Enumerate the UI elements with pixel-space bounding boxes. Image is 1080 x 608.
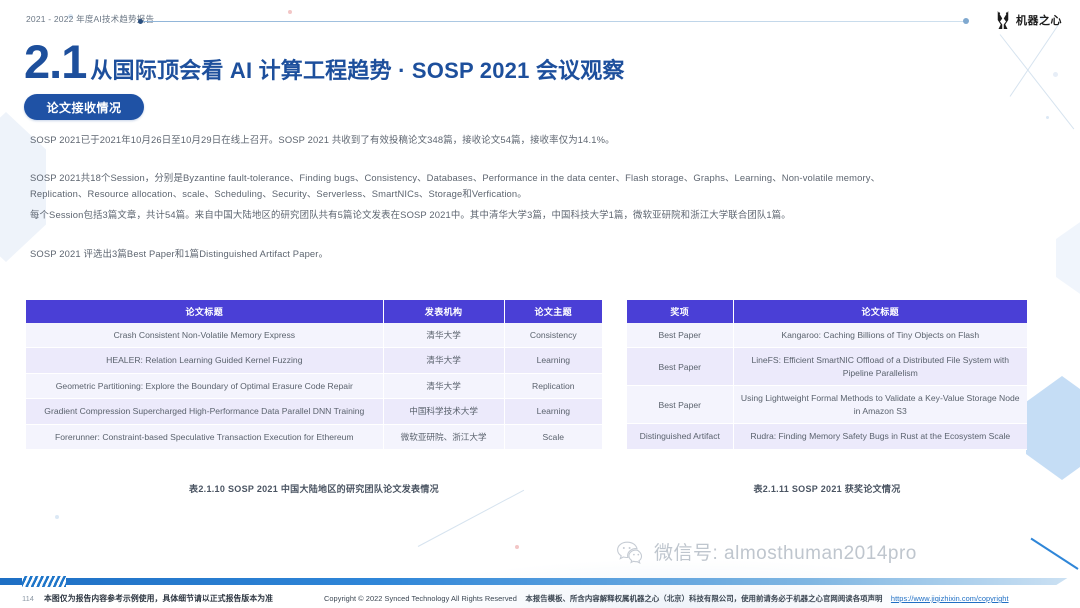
column-header-topic: 论文主题 — [504, 300, 602, 323]
cell-paper-title: Rudra: Finding Memory Safety Bugs in Rus… — [733, 424, 1027, 449]
section-number: 2.1 — [24, 38, 86, 85]
table-row: Gradient Compression Supercharged High-P… — [26, 399, 602, 424]
page-number: 114 — [22, 594, 34, 603]
footer-accent-bar — [0, 578, 1080, 585]
cell-paper-title: Kangaroo: Caching Billions of Tiny Objec… — [733, 323, 1027, 348]
cell-topic: Replication — [504, 373, 602, 398]
footer-copyright-link[interactable]: https://www.jiqizhixin.com/copyright — [891, 594, 1009, 603]
line-decoration — [1000, 34, 1075, 129]
footer-copyright: Copyright © 2022 Synced Technology All R… — [324, 594, 517, 603]
dot-decoration — [288, 10, 292, 14]
paragraph-sessions: SOSP 2021共18个Session，分别是Byzantine fault-… — [30, 170, 910, 203]
dot-decoration — [1046, 116, 1049, 119]
cell-award: Distinguished Artifact — [627, 424, 733, 449]
table-row: Geometric Partitioning: Explore the Boun… — [26, 373, 602, 398]
table-row: Best Paper Using Lightweight Formal Meth… — [627, 386, 1027, 424]
paragraph-awards: SOSP 2021 评选出3篇Best Paper和1篇Distinguishe… — [30, 246, 730, 262]
table-china-papers: 论文标题 发表机构 论文主题 Crash Consistent Non-Vola… — [26, 300, 602, 450]
cell-topic: Scale — [504, 424, 602, 449]
slide-page: 2021 - 2022 年度AI技术趋势报告 机器之心 2.1 从国际顶会看 A… — [0, 0, 1080, 608]
footer-disclaimer: 本图仅为报告内容参考示例使用，具体细节请以正式报告版本为准 — [44, 593, 273, 604]
table-row: Best Paper LineFS: Efficient SmartNIC Of… — [627, 348, 1027, 386]
page-title: 2.1 从国际顶会看 AI 计算工程趋势 · SOSP 2021 会议观察 — [24, 38, 625, 85]
dot-decoration — [1053, 72, 1058, 77]
status-badge-label: 论文接收情况 — [46, 99, 121, 116]
hexagon-decoration-right-small — [1056, 220, 1080, 296]
cell-paper-title: LineFS: Efficient SmartNIC Offload of a … — [733, 348, 1027, 386]
column-header-title: 论文标题 — [26, 300, 383, 323]
report-kicker: 2021 - 2022 年度AI技术趋势报告 — [26, 13, 154, 25]
column-header-award: 奖项 — [627, 300, 733, 323]
hexagon-decoration-right — [1026, 376, 1080, 480]
cell-paper-title: Geometric Partitioning: Explore the Boun… — [26, 373, 383, 398]
cell-award: Best Paper — [627, 386, 733, 424]
paragraph-acceptance-stats: SOSP 2021已于2021年10月26日至10月29日在线上召开。SOSP … — [30, 132, 1030, 148]
wechat-icon — [616, 540, 646, 564]
cell-topic: Learning — [504, 399, 602, 424]
kicker-rule — [143, 21, 967, 22]
table-header-row: 论文标题 发表机构 论文主题 — [26, 300, 602, 323]
cell-institution: 清华大学 — [383, 323, 504, 348]
cell-paper-title: Using Lightweight Formal Methods to Vali… — [733, 386, 1027, 424]
brand-name: 机器之心 — [1016, 12, 1062, 28]
table-row: Forerunner: Constraint-based Speculative… — [26, 424, 602, 449]
cell-institution: 清华大学 — [383, 348, 504, 373]
table-row: Crash Consistent Non-Volatile Memory Exp… — [26, 323, 602, 348]
paragraph-china-teams: 每个Session包括3篇文章，共计54篇。来自中国大陆地区的研究团队共有5篇论… — [30, 207, 1040, 223]
cell-institution: 中国科学技术大学 — [383, 399, 504, 424]
table-row: Distinguished Artifact Rudra: Finding Me… — [627, 424, 1027, 449]
synced-x-logo-icon — [994, 10, 1012, 30]
cell-topic: Consistency — [504, 323, 602, 348]
wechat-watermark: 微信号: almosthuman2014pro — [616, 538, 917, 565]
cell-institution: 微软亚研院、浙江大学 — [383, 424, 504, 449]
table-header-row: 奖项 论文标题 — [627, 300, 1027, 323]
footer-rights-zh: 本报告模板、所含内容解释权属机器之心（北京）科技有限公司，使用前请务必于机器之心… — [525, 594, 882, 603]
table-award-papers: 奖项 论文标题 Best Paper Kangaroo: Caching Bil… — [627, 300, 1027, 450]
footer-stripes-decoration — [22, 576, 66, 587]
kicker-end-dot-icon — [963, 18, 969, 24]
column-header-title: 论文标题 — [733, 300, 1027, 323]
cell-topic: Learning — [504, 348, 602, 373]
status-badge: 论文接收情况 — [24, 94, 144, 120]
footer-copyright-block: Copyright © 2022 Synced Technology All R… — [324, 593, 1009, 604]
brand-logo: 机器之心 — [994, 10, 1062, 30]
table-row: Best Paper Kangaroo: Caching Billions of… — [627, 323, 1027, 348]
column-header-institution: 发表机构 — [383, 300, 504, 323]
cell-paper-title: Gradient Compression Supercharged High-P… — [26, 399, 383, 424]
table-caption-right: 表2.1.11 SOSP 2021 获奖论文情况 — [627, 482, 1027, 495]
wechat-handle: 微信号: almosthuman2014pro — [654, 538, 917, 565]
cell-paper-title: Forerunner: Constraint-based Speculative… — [26, 424, 383, 449]
line-decoration — [1010, 22, 1061, 97]
table-row: HEALER: Relation Learning Guided Kernel … — [26, 348, 602, 373]
dot-decoration — [55, 515, 59, 519]
cell-paper-title: HEALER: Relation Learning Guided Kernel … — [26, 348, 383, 373]
table-caption-left: 表2.1.10 SOSP 2021 中国大陆地区的研究团队论文发表情况 — [26, 482, 602, 495]
cell-institution: 清华大学 — [383, 373, 504, 398]
cell-paper-title: Crash Consistent Non-Volatile Memory Exp… — [26, 323, 383, 348]
cell-award: Best Paper — [627, 348, 733, 386]
section-title: 从国际顶会看 AI 计算工程趋势 · SOSP 2021 会议观察 — [90, 53, 624, 85]
cell-award: Best Paper — [627, 323, 733, 348]
